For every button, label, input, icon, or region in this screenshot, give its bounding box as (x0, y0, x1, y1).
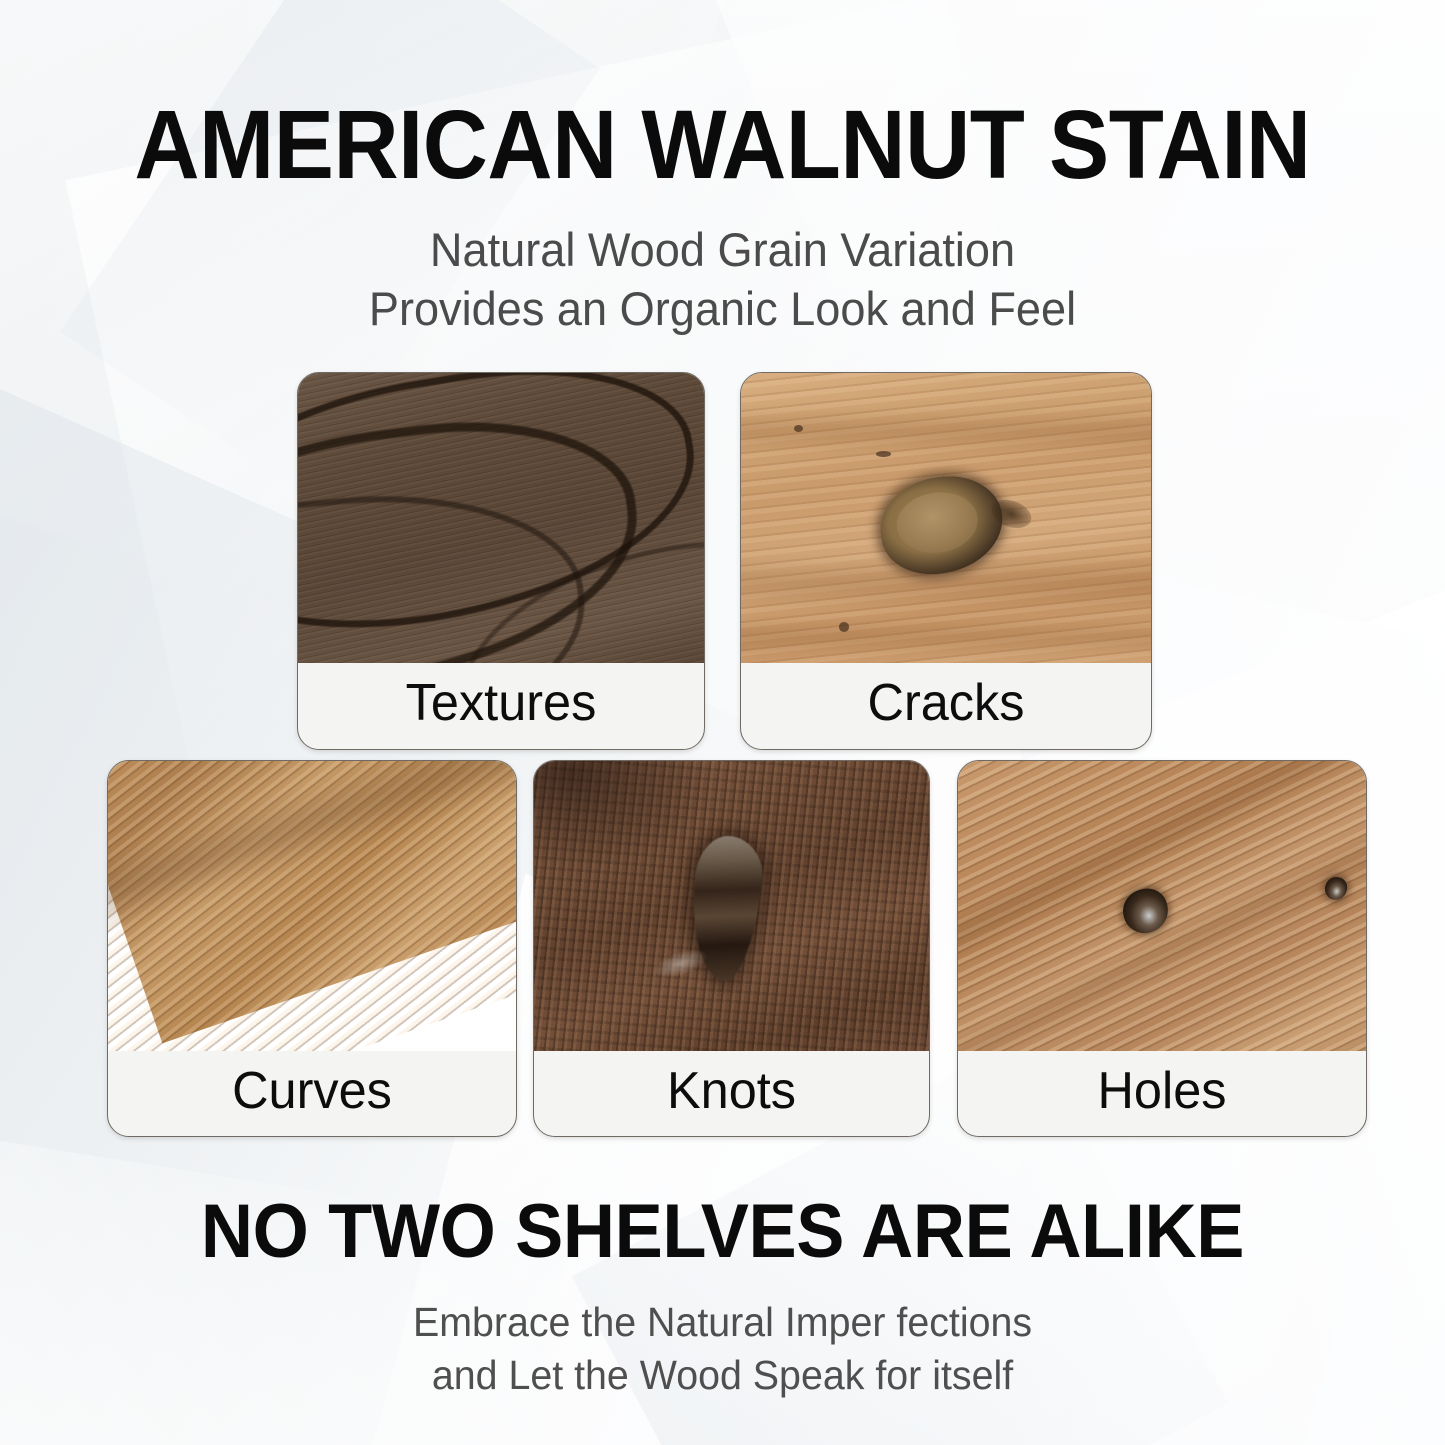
footer-title: NO TWO SHELVES ARE ALIKE (36, 1194, 1409, 1270)
footer-subtitle-line-1: Embrace the Natural Imper fections (29, 1296, 1416, 1349)
header-subtitle-line-2: Provides an Organic Look and Feel (29, 280, 1416, 339)
feature-card-textures[interactable]: Textures (297, 372, 705, 750)
wood-fleck-2 (839, 622, 849, 631)
feature-card-curves[interactable]: Curves (107, 760, 517, 1137)
header-subtitle-line-1: Natural Wood Grain Variation (29, 221, 1416, 280)
page-title: AMERICAN WALNUT STAIN (51, 96, 1395, 193)
wood-swatch-tan-grain (958, 761, 1366, 1051)
grain-band-3 (741, 617, 1151, 658)
footer-block: NO TWO SHELVES ARE ALIKE Embrace the Nat… (0, 1194, 1445, 1403)
card-label-holes: Holes (964, 1051, 1360, 1136)
wood-swatch-dark-walnut (298, 373, 704, 663)
grain-band-1 (741, 408, 1151, 454)
feature-card-holes[interactable]: Holes (957, 760, 1367, 1137)
wood-swatch-dark-chocolate (534, 761, 929, 1051)
card-label-knots: Knots (540, 1051, 923, 1136)
feature-card-knots[interactable]: Knots (533, 760, 930, 1137)
card-photo-knots (534, 761, 929, 1051)
infographic-page: AMERICAN WALNUT STAIN Natural Wood Grain… (0, 0, 1445, 1445)
header-subtitle: Natural Wood Grain Variation Provides an… (0, 221, 1445, 339)
card-photo-cracks (741, 373, 1151, 663)
card-photo-holes (958, 761, 1366, 1051)
card-label-cracks: Cracks (747, 663, 1145, 749)
card-label-curves: Curves (114, 1051, 510, 1136)
card-photo-textures (298, 373, 704, 663)
card-label-textures: Textures (304, 663, 698, 749)
wood-swatch-light-tan (741, 373, 1151, 663)
card-photo-curves (108, 761, 516, 1051)
footer-subtitle-line-2: and Let the Wood Speak for itself (29, 1349, 1416, 1402)
feature-card-cracks[interactable]: Cracks (740, 372, 1152, 750)
header-block: AMERICAN WALNUT STAIN Natural Wood Grain… (0, 96, 1445, 339)
wood-swatch-plank-edge (108, 761, 516, 1051)
corner-shadow (534, 761, 716, 871)
footer-subtitle: Embrace the Natural Imper fections and L… (0, 1296, 1445, 1403)
